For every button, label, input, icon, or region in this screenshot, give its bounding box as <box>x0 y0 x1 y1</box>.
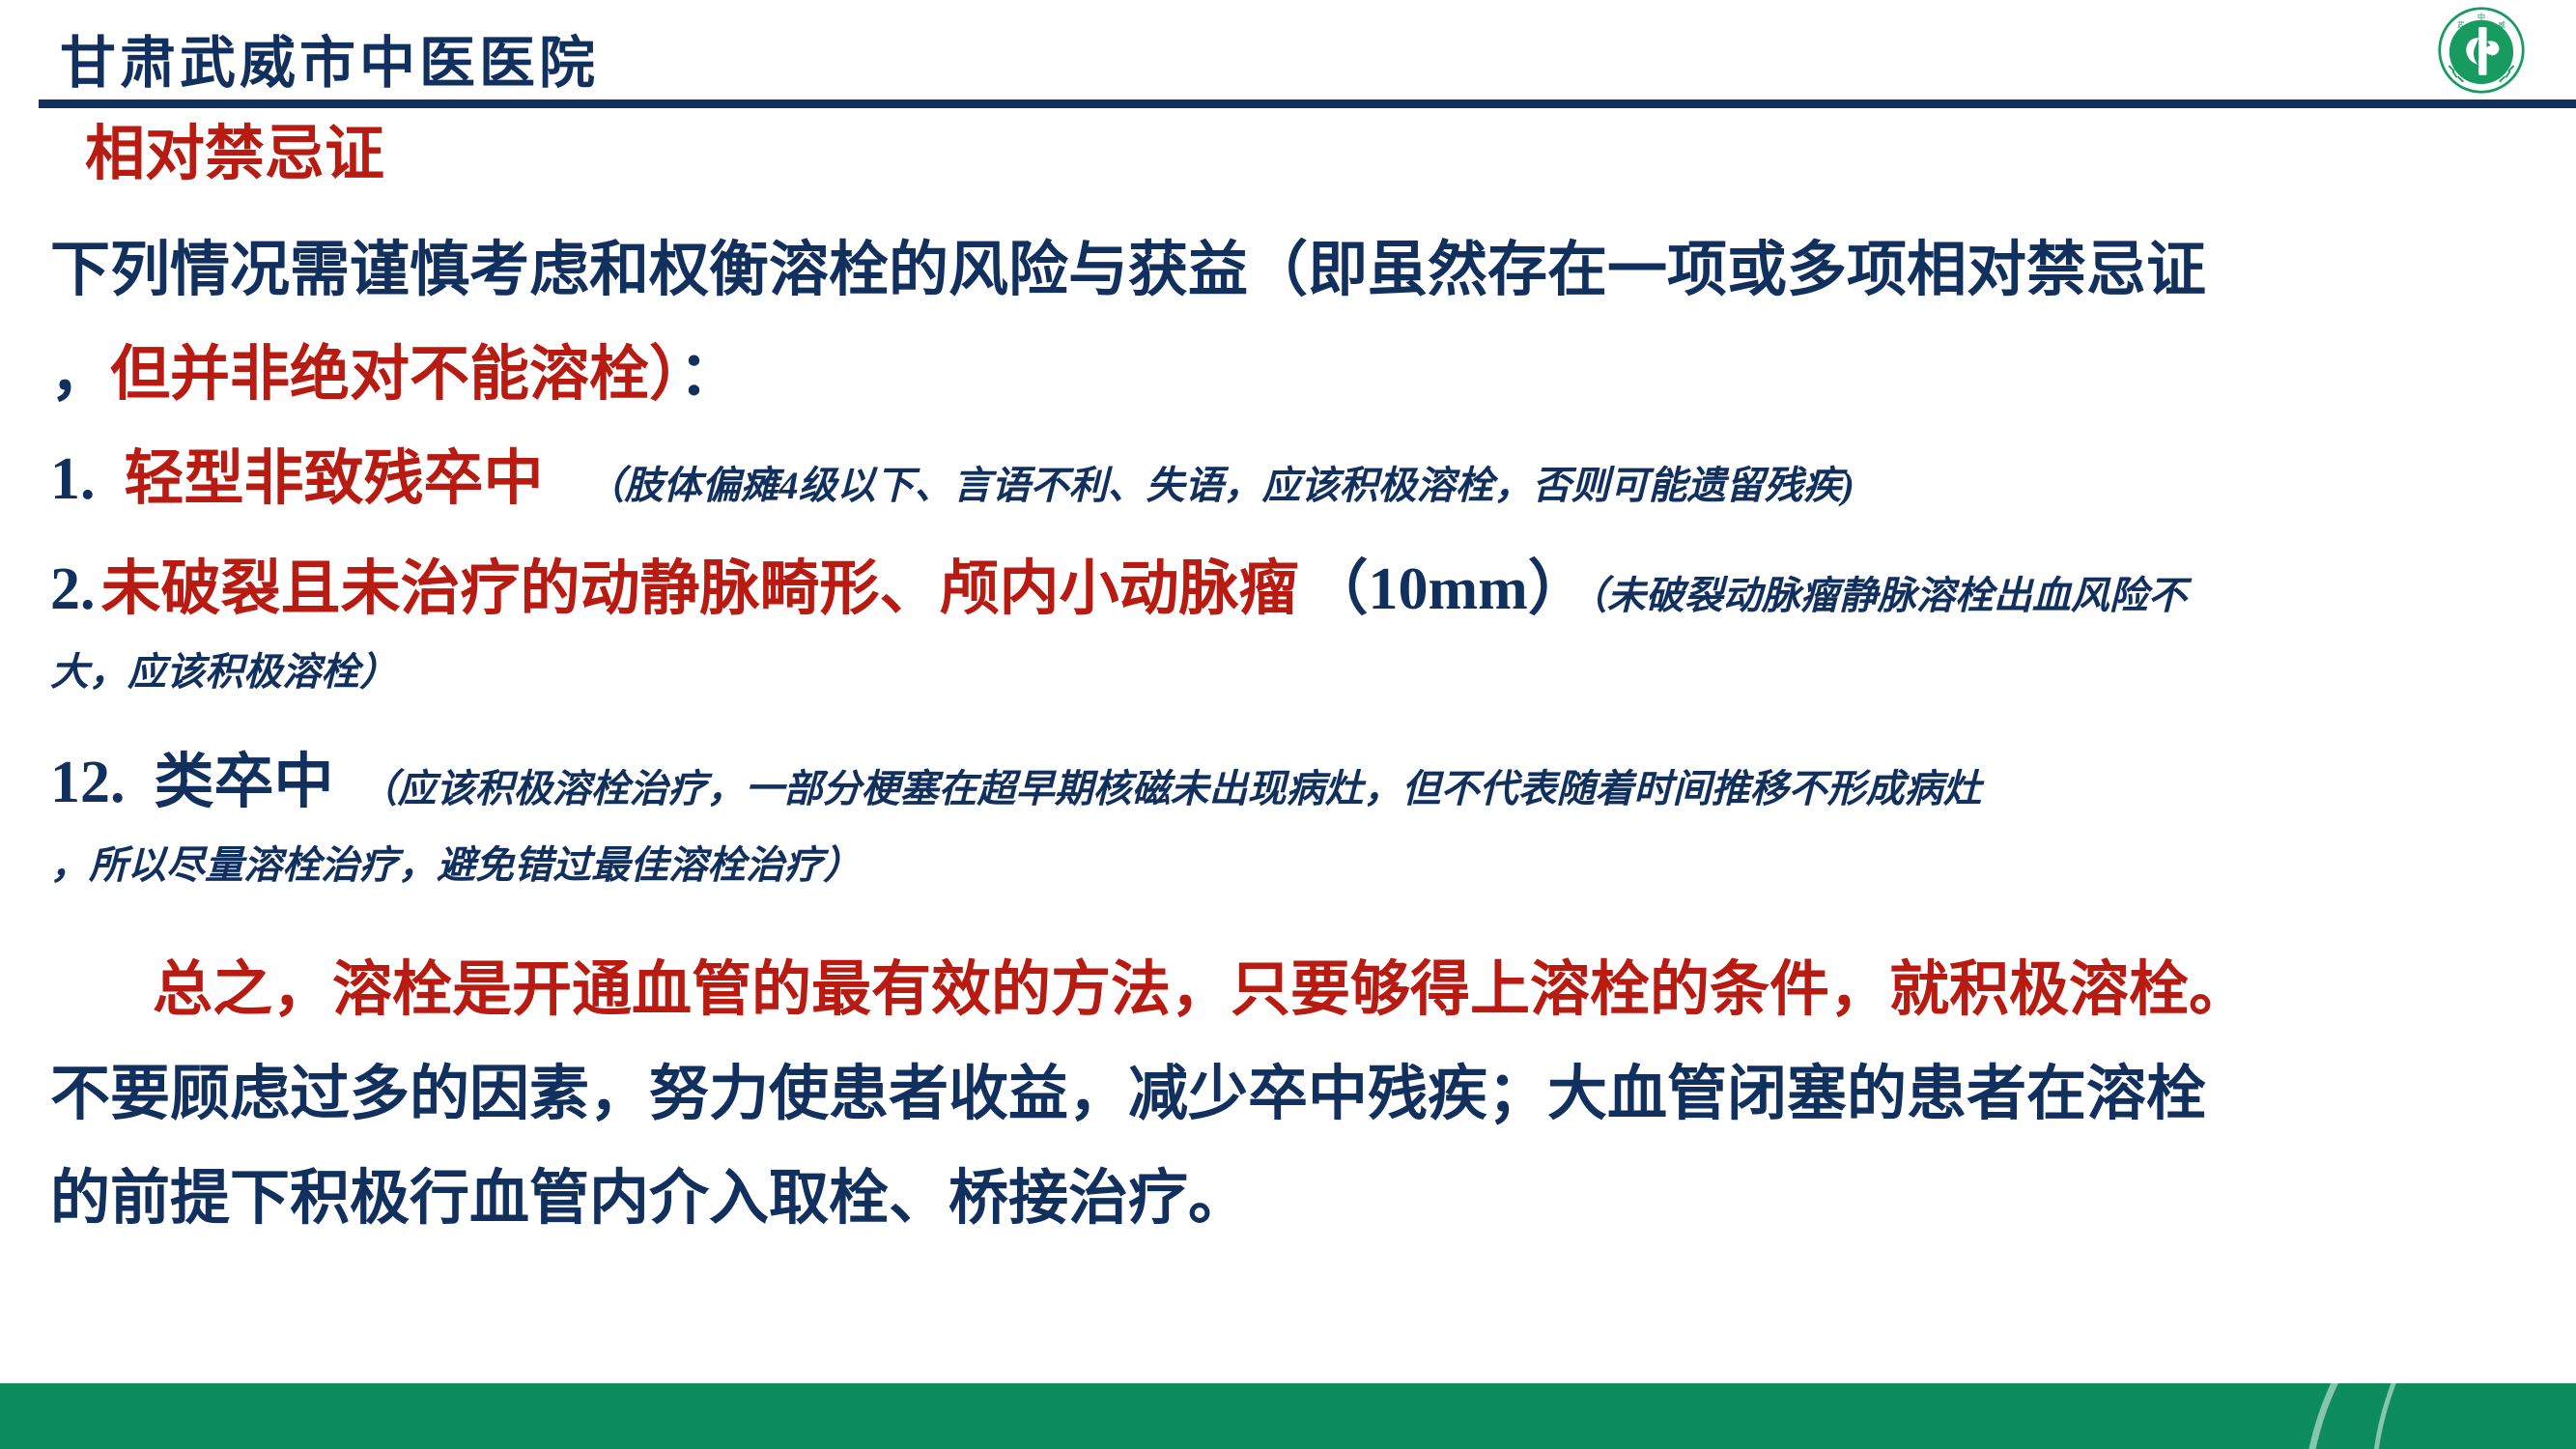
slide-header: 甘肃武威市中医医院 中 武 威 <box>0 0 2576 106</box>
header-divider <box>39 99 2576 108</box>
svg-text:威: 威 <box>2498 20 2505 29</box>
list-item-1-number: 1. <box>50 446 96 512</box>
intro-line-2-comma: ， <box>50 342 110 408</box>
svg-text:武: 武 <box>2457 20 2465 29</box>
conclusion-line-1: 总之，溶栓是开通血管的最有效的方法，只要够得上溶栓的条件，就积极溶栓。 <box>153 940 2249 1027</box>
hospital-logo-icon: 中 武 威 <box>2437 6 2526 95</box>
list-item-2-title: 未破裂且未治疗的动静脉畸形、颅内小动脉瘤 <box>96 556 1299 622</box>
intro-line-1: 下列情况需谨慎考虑和权衡溶栓的风险与获益（即虽然存在一项或多项相对禁忌证 <box>50 220 2206 307</box>
intro-line-2-colon: ： <box>679 342 739 408</box>
section-heading: 相对禁忌证 <box>85 104 384 191</box>
list-item-1-title: 轻型非致残卒中 <box>96 446 544 512</box>
list-item-2: 2.未破裂且未治疗的动静脉畸形、颅内小动脉瘤（10mm）（未破裂动脉瘤静脉溶栓出… <box>50 539 2187 626</box>
list-item-2-number: 2. <box>50 556 96 622</box>
slide-footer-bar <box>0 1383 2576 1449</box>
slide-canvas: 甘肃武威市中医医院 中 武 威 相对禁忌 <box>0 0 2576 1449</box>
list-item-1: 1.轻型非致残卒中（肢体偏瘫4级以下、言语不利、失语，应该积极溶栓，否则可能遗留… <box>50 429 1854 516</box>
list-item-12-title: 类卒中 <box>126 750 334 815</box>
svg-text:中: 中 <box>2477 13 2485 22</box>
intro-line-2: ，但并非绝对不能溶栓）： <box>50 325 739 412</box>
conclusion-line-2: 不要顾虑过多的因素，努力使患者收益，减少卒中残疾；大血管闭塞的患者在溶栓 <box>50 1044 2206 1131</box>
intro-line-2-red: 但并非绝对不能溶栓） <box>110 342 679 408</box>
conclusion-line-3: 的前提下积极行血管内介入取栓、桥接治疗。 <box>50 1149 1248 1236</box>
list-item-2-note-line-2: 大，应该积极溶栓） <box>50 640 398 696</box>
list-item-2-measure: （10mm） <box>1299 556 1588 622</box>
list-item-1-note: （肢体偏瘫4级以下、言语不利、失语，应该积极溶栓，否则可能遗留残疾) <box>544 464 1854 507</box>
list-item-12: 12.类卒中（应该积极溶栓治疗，一部分梗塞在超早期核磁未出现病灶，但不代表随着时… <box>50 732 1982 819</box>
list-item-12-number: 12. <box>50 750 126 815</box>
list-item-2-note-line-1: （未破裂动脉瘤静脉溶栓出血风险不 <box>1588 574 2187 617</box>
page-title: 甘肃武威市中医医院 <box>60 17 599 99</box>
list-item-12-note-line-2: ，所以尽量溶栓治疗，避免错过最佳溶栓治疗） <box>50 834 862 890</box>
list-item-12-note-line-1: （应该积极溶栓治疗，一部分梗塞在超早期核磁未出现病灶，但不代表随着时间推移不形成… <box>334 767 1982 810</box>
